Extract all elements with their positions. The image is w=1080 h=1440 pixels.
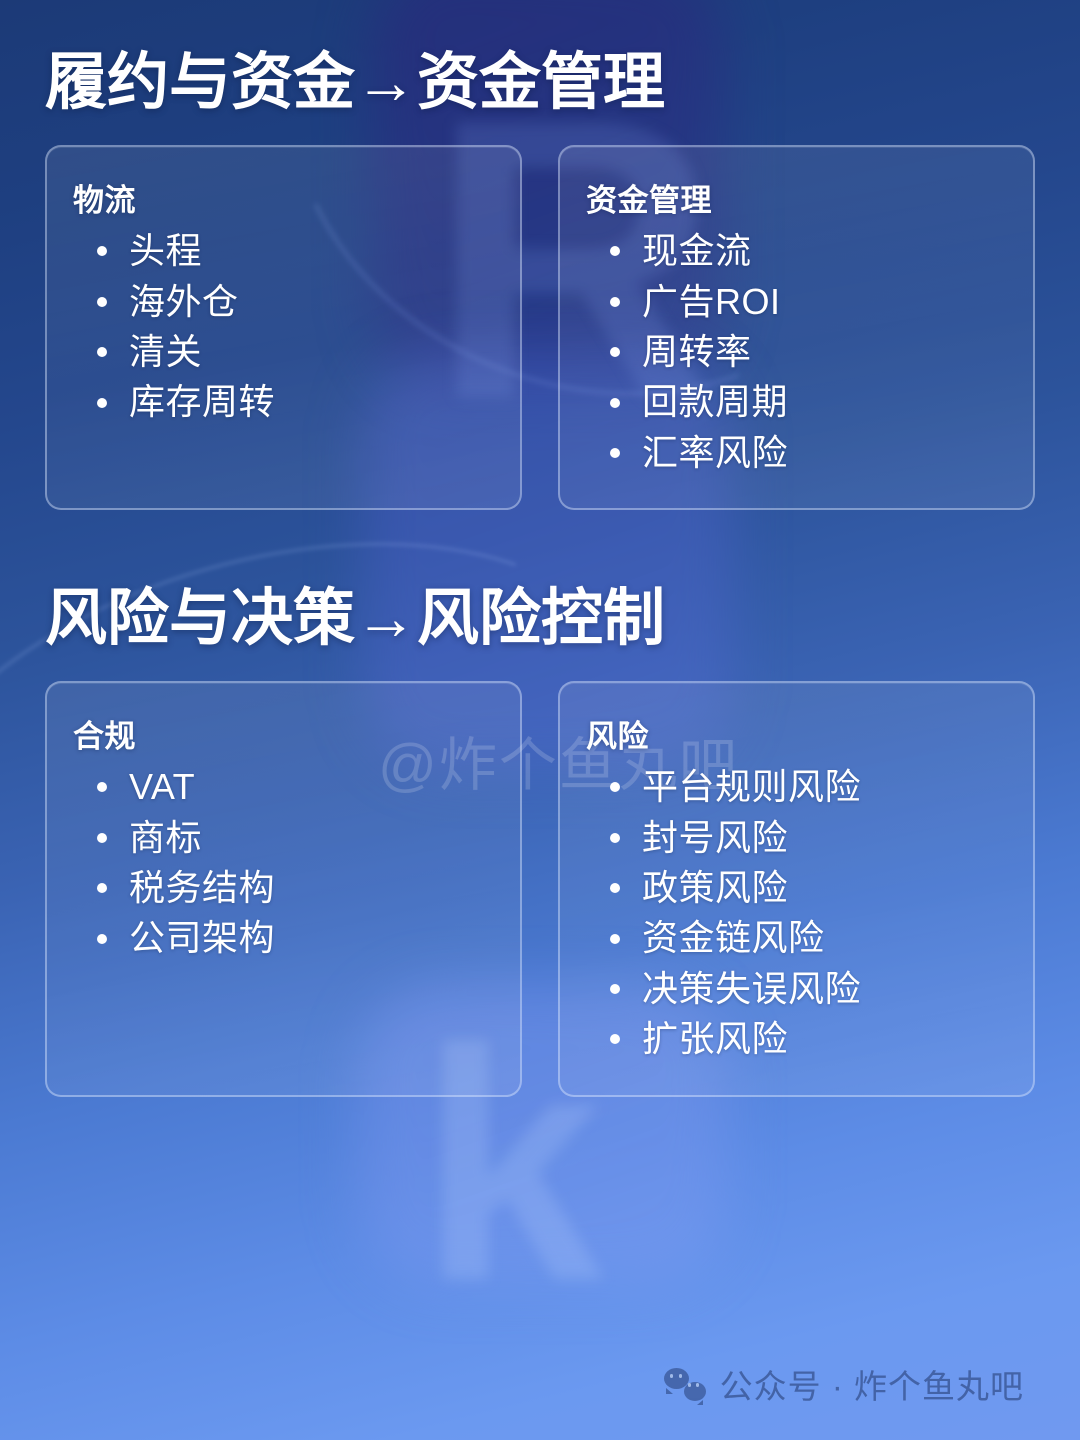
- card-item-list: 现金流 广告ROI 周转率 回款周期 汇率风险: [586, 226, 1007, 478]
- footer-attribution: 公众号 · 炸个鱼丸吧: [664, 1360, 1024, 1408]
- list-item: 公司架构: [87, 913, 494, 963]
- list-item: 汇率风险: [600, 428, 1007, 478]
- card-risk[interactable]: 风险 平台规则风险 封号风险 政策风险 资金链风险 决策失误风险 扩张风险: [558, 681, 1035, 1096]
- list-item: 封号风险: [600, 813, 1007, 863]
- section-title: 履约与资金→资金管理: [45, 46, 1035, 119]
- list-item: 决策失误风险: [600, 964, 1007, 1014]
- wechat-dot: [670, 1374, 674, 1378]
- card-compliance[interactable]: 合规 VAT 商标 税务结构 公司架构: [45, 681, 522, 1096]
- list-item: 资金链风险: [600, 913, 1007, 963]
- list-item: 周转率: [600, 327, 1007, 377]
- card-title: 风险: [586, 711, 1007, 756]
- poster-canvas: R k @炸个鱼丸吧 履约与资金→资金管理 物流 头程 海外仓 清关 库存周转 …: [0, 0, 1080, 1440]
- wechat-dot: [679, 1374, 683, 1378]
- card-item-list: 平台规则风险 封号风险 政策风险 资金链风险 决策失误风险 扩张风险: [586, 762, 1007, 1064]
- list-item: VAT: [87, 762, 494, 812]
- poster-content: 履约与资金→资金管理 物流 头程 海外仓 清关 库存周转 资金管理 现金流 广: [0, 0, 1080, 1097]
- wechat-bubble-small: [684, 1382, 706, 1401]
- section-title: 风险与决策→风险控制: [45, 582, 1035, 655]
- list-item: 海外仓: [87, 277, 494, 327]
- list-item: 清关: [87, 327, 494, 377]
- card-item-list: VAT 商标 税务结构 公司架构: [73, 762, 494, 964]
- wechat-dot: [696, 1383, 700, 1387]
- list-item: 政策风险: [600, 863, 1007, 913]
- list-item: 税务结构: [87, 863, 494, 913]
- list-item: 现金流: [600, 226, 1007, 276]
- section-risk-decision: 风险与决策→风险控制 合规 VAT 商标 税务结构 公司架构 风险 平台规则风险: [45, 510, 1035, 1097]
- list-item: 库存周转: [87, 377, 494, 427]
- list-item: 平台规则风险: [600, 762, 1007, 812]
- card-row: 合规 VAT 商标 税务结构 公司架构 风险 平台规则风险 封号风险 政策风险 …: [45, 681, 1035, 1096]
- card-funds-management[interactable]: 资金管理 现金流 广告ROI 周转率 回款周期 汇率风险: [558, 145, 1035, 510]
- wechat-dot: [688, 1383, 692, 1387]
- footer-text: 公众号 · 炸个鱼丸吧: [720, 1360, 1024, 1408]
- list-item: 头程: [87, 226, 494, 276]
- card-title: 资金管理: [586, 175, 1007, 220]
- card-item-list: 头程 海外仓 清关 库存周转: [73, 226, 494, 428]
- list-item: 扩张风险: [600, 1014, 1007, 1064]
- section-fulfillment-funds: 履约与资金→资金管理 物流 头程 海外仓 清关 库存周转 资金管理 现金流 广: [45, 0, 1035, 510]
- list-item: 商标: [87, 813, 494, 863]
- list-item: 广告ROI: [600, 277, 1007, 327]
- card-logistics[interactable]: 物流 头程 海外仓 清关 库存周转: [45, 145, 522, 510]
- wechat-icon: [664, 1367, 706, 1401]
- card-row: 物流 头程 海外仓 清关 库存周转 资金管理 现金流 广告ROI 周转率 回款周…: [45, 145, 1035, 510]
- card-title: 物流: [73, 175, 494, 220]
- list-item: 回款周期: [600, 377, 1007, 427]
- card-title: 合规: [73, 711, 494, 756]
